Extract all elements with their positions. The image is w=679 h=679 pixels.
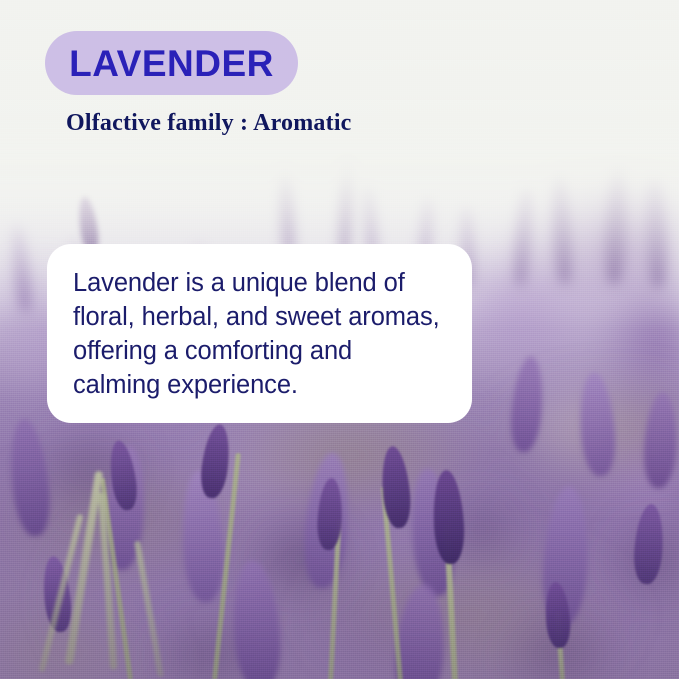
page-title: LAVENDER: [69, 45, 274, 82]
lavender-product-poster: LAVENDER Olfactive family : Aromatic Lav…: [0, 0, 679, 679]
description-text: Lavender is a unique blend of floral, he…: [73, 266, 446, 402]
olfactive-family-subtitle: Olfactive family : Aromatic: [66, 110, 352, 137]
description-card: Lavender is a unique blend of floral, he…: [47, 244, 472, 423]
title-badge: LAVENDER: [45, 31, 298, 95]
